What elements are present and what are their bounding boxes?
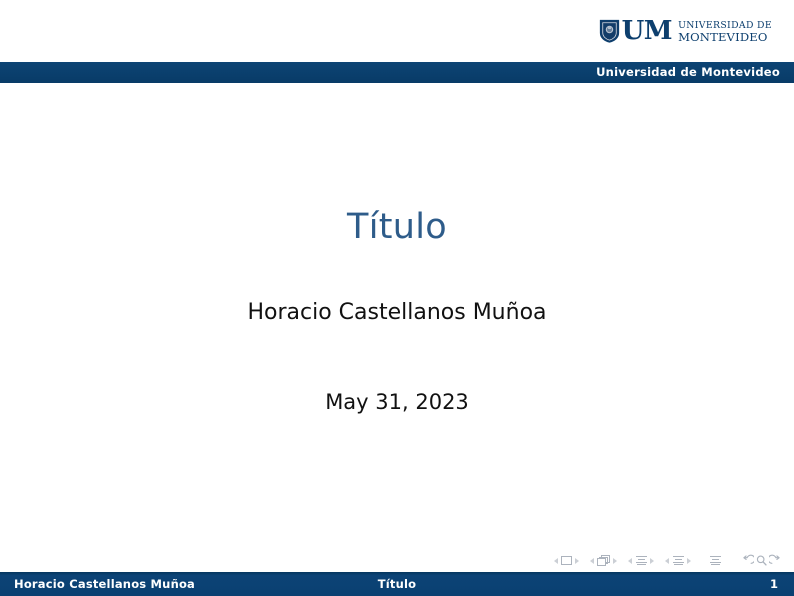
presentation-navigation-group[interactable] (709, 555, 721, 566)
slide-date: May 31, 2023 (0, 390, 794, 414)
slide-title: Título (0, 207, 794, 247)
document-lines-icon[interactable] (672, 555, 684, 566)
logo-band: UM UNIVERSIDAD DE MONTEVIDEO (0, 0, 794, 62)
header-institution-name: Universidad de Montevideo (596, 65, 780, 79)
header-bar: Universidad de Montevideo (0, 62, 794, 83)
magnifier-icon[interactable] (755, 554, 768, 567)
section-navigation-group[interactable] (665, 555, 691, 566)
logo-monogram: UM (622, 18, 672, 44)
rectangle-icon[interactable] (561, 556, 572, 565)
beamer-navigation-symbols[interactable] (554, 552, 782, 569)
logo-wordmark-line2: MONTEVIDEO (678, 32, 772, 44)
subsection-next-icon[interactable] (650, 558, 654, 564)
university-logo: UM UNIVERSIDAD DE MONTEVIDEO (599, 14, 772, 48)
frame-prev-icon[interactable] (590, 558, 594, 564)
slide-next-icon[interactable] (575, 558, 579, 564)
subsection-prev-icon[interactable] (628, 558, 632, 564)
slide-prev-icon[interactable] (554, 558, 558, 564)
frame-next-icon[interactable] (613, 558, 617, 564)
section-prev-icon[interactable] (665, 558, 669, 564)
slide-author: Horacio Castellanos Muñoa (0, 300, 794, 325)
um-shield-crest-icon (599, 19, 620, 43)
document-lines-icon[interactable] (709, 555, 721, 566)
slide-body: Título Horacio Castellanos Muñoa May 31,… (0, 83, 794, 570)
history-navigation-group[interactable] (741, 554, 782, 567)
footer-title: Título (0, 577, 794, 591)
undo-arrow-icon[interactable] (741, 554, 754, 567)
logo-wordmark: UNIVERSIDAD DE MONTEVIDEO (678, 19, 772, 44)
footer-bar: Horacio Castellanos Muñoa Título 1 (0, 572, 794, 596)
redo-arrow-icon[interactable] (769, 554, 782, 567)
subsection-navigation-group[interactable] (628, 555, 654, 566)
presentation-slide: UM UNIVERSIDAD DE MONTEVIDEO Universidad… (0, 0, 794, 596)
stacked-frames-icon[interactable] (597, 555, 610, 566)
frame-navigation-group[interactable] (590, 555, 617, 566)
section-next-icon[interactable] (687, 558, 691, 564)
document-lines-icon[interactable] (635, 555, 647, 566)
footer-page-number: 1 (770, 577, 778, 591)
slide-navigation-group[interactable] (554, 556, 579, 565)
